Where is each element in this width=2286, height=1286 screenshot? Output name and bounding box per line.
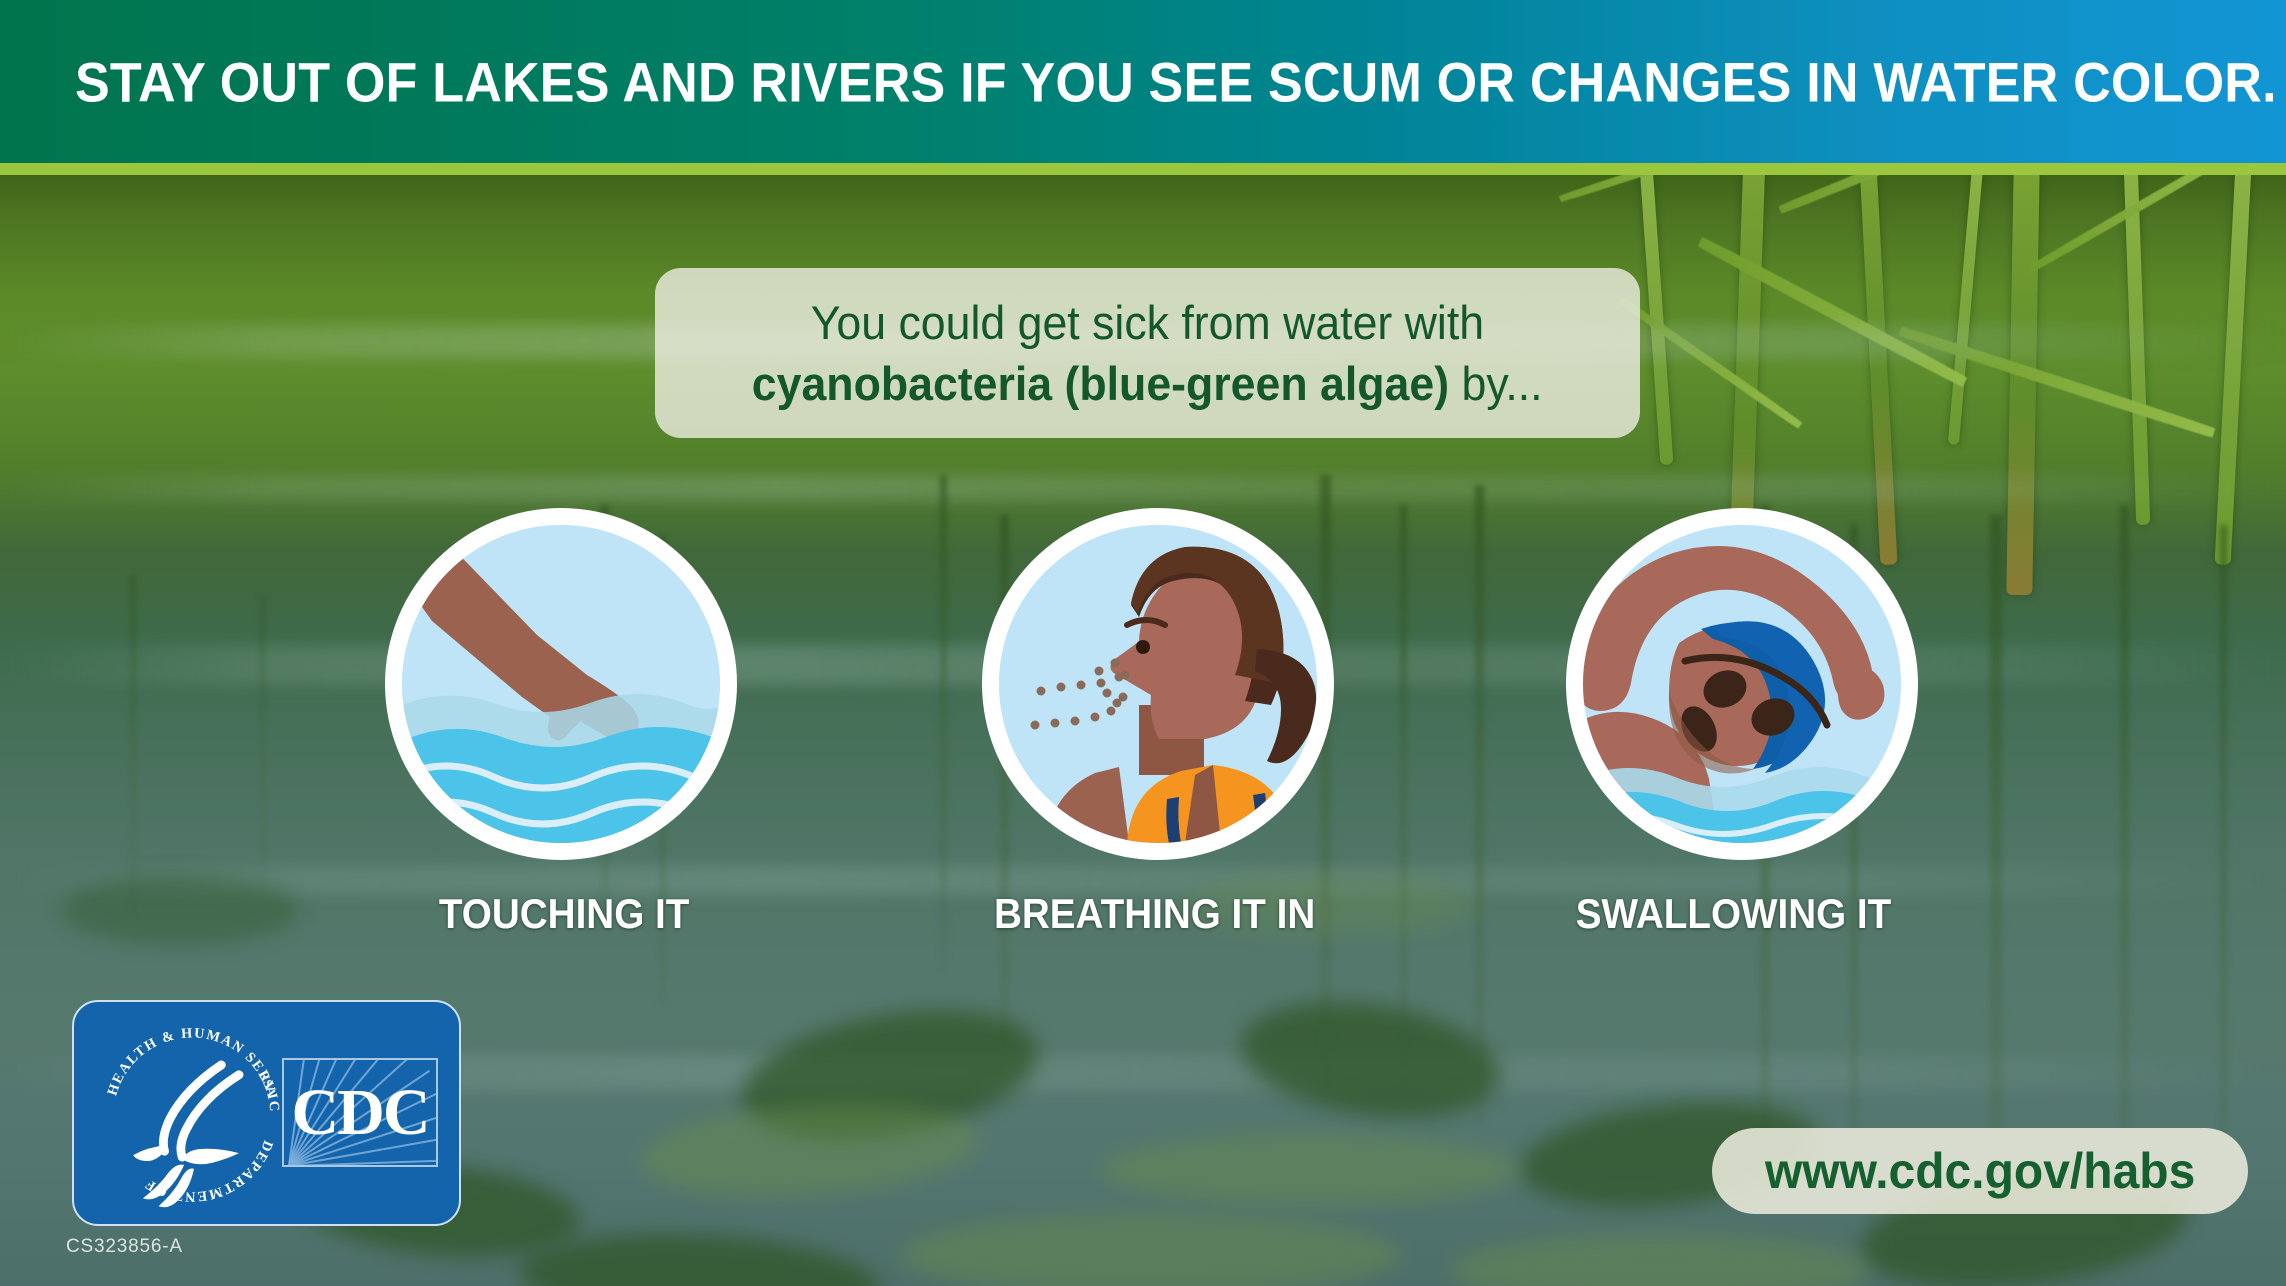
exposure-icon-breathing [982, 508, 1334, 860]
page-title: STAY OUT OF LAKES AND RIVERS IF YOU SEE … [75, 49, 2277, 114]
exposure-label-touching: TOUCHING IT [439, 890, 689, 938]
poster-canvas: STAY OUT OF LAKES AND RIVERS IF YOU SEE … [0, 0, 2286, 1286]
callout-box: You could get sick from water with cyano… [655, 268, 1640, 438]
swimmer-swallowing-water-svg [1583, 525, 1901, 843]
algae-mat [60, 875, 300, 945]
callout-bold-term: cyanobacteria (blue-green algae) [752, 357, 1449, 410]
water-sheen [0, 475, 2286, 501]
person-breathing-aerosol-icon [999, 525, 1317, 843]
reed-stalk [1948, 175, 1983, 445]
reed-reflection [130, 575, 136, 915]
hand-touching-water-icon [402, 525, 720, 843]
reed-stalk [1860, 175, 1898, 565]
reed-stalk [2215, 175, 2252, 565]
algae-mat [1450, 1235, 1870, 1286]
url-text: www.cdc.gov/habs [1765, 1142, 2195, 1200]
swimmer-swallowing-water-icon [1583, 525, 1901, 843]
algae-mat [637, 1093, 982, 1206]
reed-reflection [2220, 525, 2227, 1205]
algae-mat [900, 1215, 1400, 1286]
hhs-seal-icon: HEALTH & HUMAN SERVICES DEPARTMENT OF US… [92, 1014, 288, 1210]
reed-reflection [1400, 505, 1407, 1085]
reed-stalk [2006, 175, 2040, 595]
callout-tail: by... [1449, 357, 1542, 410]
reed-reflection [260, 595, 265, 895]
algae-mat [1100, 1135, 1520, 1205]
cdc-logo: HEALTH & HUMAN SERVICES DEPARTMENT OF US… [72, 1000, 461, 1226]
header-banner: STAY OUT OF LAKES AND RIVERS IF YOU SEE … [0, 0, 2286, 163]
exposure-icon-touching [385, 508, 737, 860]
person-breathing-aerosol-svg [999, 525, 1317, 843]
reed-reflection [1990, 515, 2002, 1215]
hand-touching-water-svg [402, 525, 720, 843]
exposure-label-swallowing: SWALLOWING IT [1576, 890, 1892, 938]
reed-blade [1617, 296, 1802, 430]
publication-id: CS323856-A [66, 1236, 183, 1258]
cdc-wordmark: CDC [282, 1058, 438, 1167]
reed-reflection [2120, 505, 2129, 1225]
url-badge[interactable]: www.cdc.gov/habs [1712, 1128, 2248, 1214]
cdc-letters: CDC [284, 1060, 436, 1165]
reed-reflection [940, 475, 947, 975]
exposure-label-breathing: BREATHING IT IN [994, 890, 1315, 938]
reed-reflection [1475, 485, 1484, 1125]
callout-line-2: cyanobacteria (blue-green algae) by... [752, 353, 1543, 414]
algae-mat [518, 1226, 882, 1286]
reed-blade [1778, 175, 2023, 215]
exposure-icon-swallowing [1566, 508, 1918, 860]
accent-strip [0, 163, 2286, 175]
callout-line-1: You could get sick from water with [811, 292, 1484, 353]
algae-mat [1234, 987, 1507, 1132]
